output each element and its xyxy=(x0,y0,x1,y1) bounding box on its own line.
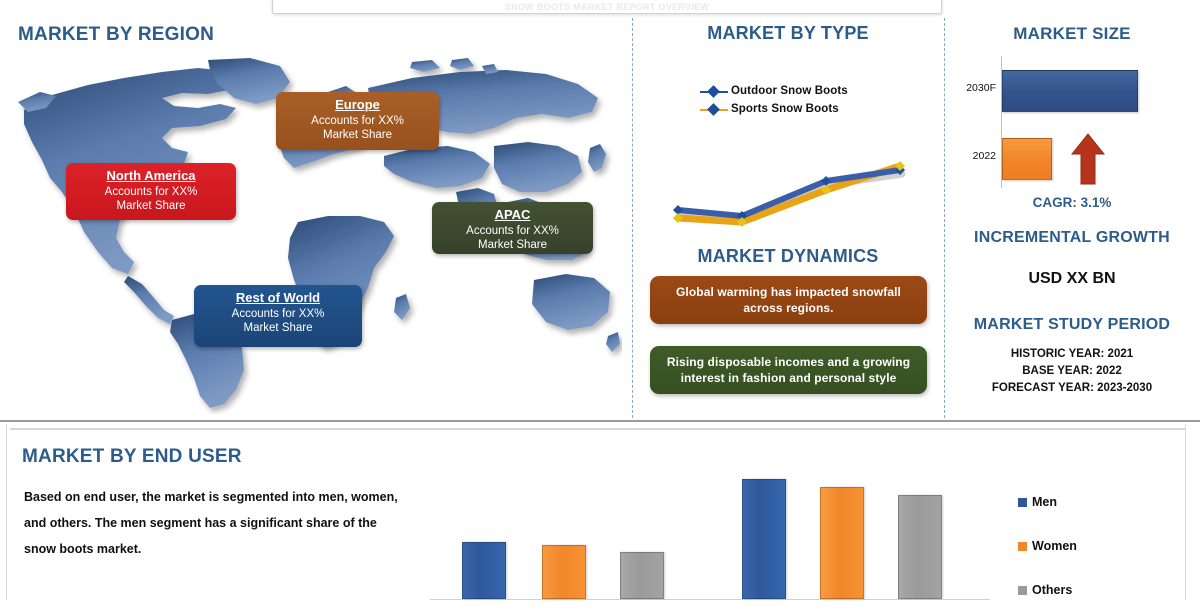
region-share-line1-europe: Accounts for XX% xyxy=(284,114,431,128)
legend-label-others: Others xyxy=(1032,583,1072,597)
region-name-europe: Europe xyxy=(284,97,431,112)
bar-others-group1 xyxy=(620,552,664,599)
market-dynamic-driver-1[interactable]: Global warming has impacted snowfall acr… xyxy=(650,276,927,324)
end-user-bar-chart xyxy=(430,440,990,600)
legend-item-women[interactable]: Women xyxy=(1018,524,1188,568)
legend-marker-outdoor-snow-boots xyxy=(700,90,728,93)
legend-label-outdoor-snow-boots: Outdoor Snow Boots xyxy=(731,85,848,97)
bar-others-group2 xyxy=(898,495,942,599)
market-study-period-lines: HISTORIC YEAR: 2021 BASE YEAR: 2022 FORE… xyxy=(944,346,1200,397)
market-dynamic-text-2: Rising disposable incomes and a growing … xyxy=(662,354,915,386)
region-share-line2-europe: Market Share xyxy=(284,128,431,142)
vertical-divider-left xyxy=(632,18,633,418)
region-name-apac: APAC xyxy=(440,207,585,222)
bottom-panel-top-edge xyxy=(10,428,1185,430)
legend-swatch-others xyxy=(1018,586,1027,595)
region-name-rest-of-world: Rest of World xyxy=(202,290,354,305)
study-period-base-year: BASE YEAR: 2022 xyxy=(944,363,1200,380)
market-size-label-2022: 2022 xyxy=(944,150,996,162)
legend-marker-sports-snow-boots xyxy=(700,108,728,111)
market-dynamics-title: MARKET DYNAMICS xyxy=(632,246,944,267)
market-size-bar-2030f xyxy=(1002,70,1138,112)
legend-item-sports-snow-boots[interactable]: Sports Snow Boots xyxy=(700,100,900,118)
market-by-type-line-chart xyxy=(660,150,920,240)
market-size-title: MARKET SIZE xyxy=(944,24,1200,44)
end-user-legend: Men Women Others xyxy=(1018,480,1188,612)
market-size-label-2030f: 2030F xyxy=(944,82,996,94)
region-share-line2-apac: Market Share xyxy=(440,238,585,252)
bar-women-group2 xyxy=(820,487,864,599)
market-size-chart: 2030F 2022 CAGR: 3.1% xyxy=(944,52,1200,222)
series-line-outdoor-snow-boots xyxy=(678,170,900,216)
bar-men-group1 xyxy=(462,542,506,599)
market-dynamic-driver-2[interactable]: Rising disposable incomes and a growing … xyxy=(650,346,927,394)
region-callout-europe[interactable]: Europe Accounts for XX% Market Share xyxy=(276,92,439,150)
market-by-type-title: MARKET BY TYPE xyxy=(632,23,944,44)
study-period-forecast-year: FORECAST YEAR: 2023-2030 xyxy=(944,380,1200,397)
market-study-period-title: MARKET STUDY PERIOD xyxy=(944,316,1200,334)
incremental-growth-value: USD XX BN xyxy=(944,270,1200,288)
legend-label-men: Men xyxy=(1032,495,1057,509)
report-title-text: SNOW BOOTS MARKET REPORT OVERVIEW xyxy=(505,2,709,13)
market-by-type-legend: Outdoor Snow Boots Sports Snow Boots xyxy=(700,82,900,118)
legend-swatch-men xyxy=(1018,498,1027,507)
market-size-bar-2022 xyxy=(1002,138,1052,180)
region-share-line1-rest-of-world: Accounts for XX% xyxy=(202,307,354,321)
region-share-line1-north-america: Accounts for XX% xyxy=(74,185,228,199)
cagr-label: CAGR: 3.1% xyxy=(944,195,1200,210)
legend-swatch-women xyxy=(1018,542,1027,551)
market-dynamic-text-1: Global warming has impacted snowfall acr… xyxy=(662,284,915,316)
legend-label-women: Women xyxy=(1032,539,1077,553)
market-by-region-title: MARKET BY REGION xyxy=(18,24,214,46)
region-callout-apac[interactable]: APAC Accounts for XX% Market Share xyxy=(432,202,593,254)
bottom-panel-left-edge xyxy=(6,424,7,600)
incremental-growth-title: INCREMENTAL GROWTH xyxy=(944,229,1200,247)
growth-arrow-icon xyxy=(1071,133,1105,185)
bar-men-group2 xyxy=(742,479,786,599)
legend-label-sports-snow-boots: Sports Snow Boots xyxy=(731,103,839,115)
end-user-description: Based on end user, the market is segment… xyxy=(24,484,404,562)
region-share-line2-rest-of-world: Market Share xyxy=(202,321,354,335)
legend-item-outdoor-snow-boots[interactable]: Outdoor Snow Boots xyxy=(700,82,900,100)
legend-item-others[interactable]: Others xyxy=(1018,568,1188,612)
infographic-page: SNOW BOOTS MARKET REPORT OVERVIEW MARKET… xyxy=(0,0,1200,600)
region-name-north-america: North America xyxy=(74,168,228,183)
region-callout-rest-of-world[interactable]: Rest of World Accounts for XX% Market Sh… xyxy=(194,285,362,347)
report-title-banner: SNOW BOOTS MARKET REPORT OVERVIEW xyxy=(272,0,942,14)
end-user-description-text: Based on end user, the market is segment… xyxy=(24,484,404,562)
bar-women-group1 xyxy=(542,545,586,599)
legend-item-men[interactable]: Men xyxy=(1018,480,1188,524)
region-share-line2-north-america: Market Share xyxy=(74,199,228,213)
market-by-end-user-title: MARKET BY END USER xyxy=(22,446,242,468)
region-callout-north-america[interactable]: North America Accounts for XX% Market Sh… xyxy=(66,163,236,220)
horizontal-divider xyxy=(0,420,1200,422)
region-share-line1-apac: Accounts for XX% xyxy=(440,224,585,238)
study-period-historic-year: HISTORIC YEAR: 2021 xyxy=(944,346,1200,363)
